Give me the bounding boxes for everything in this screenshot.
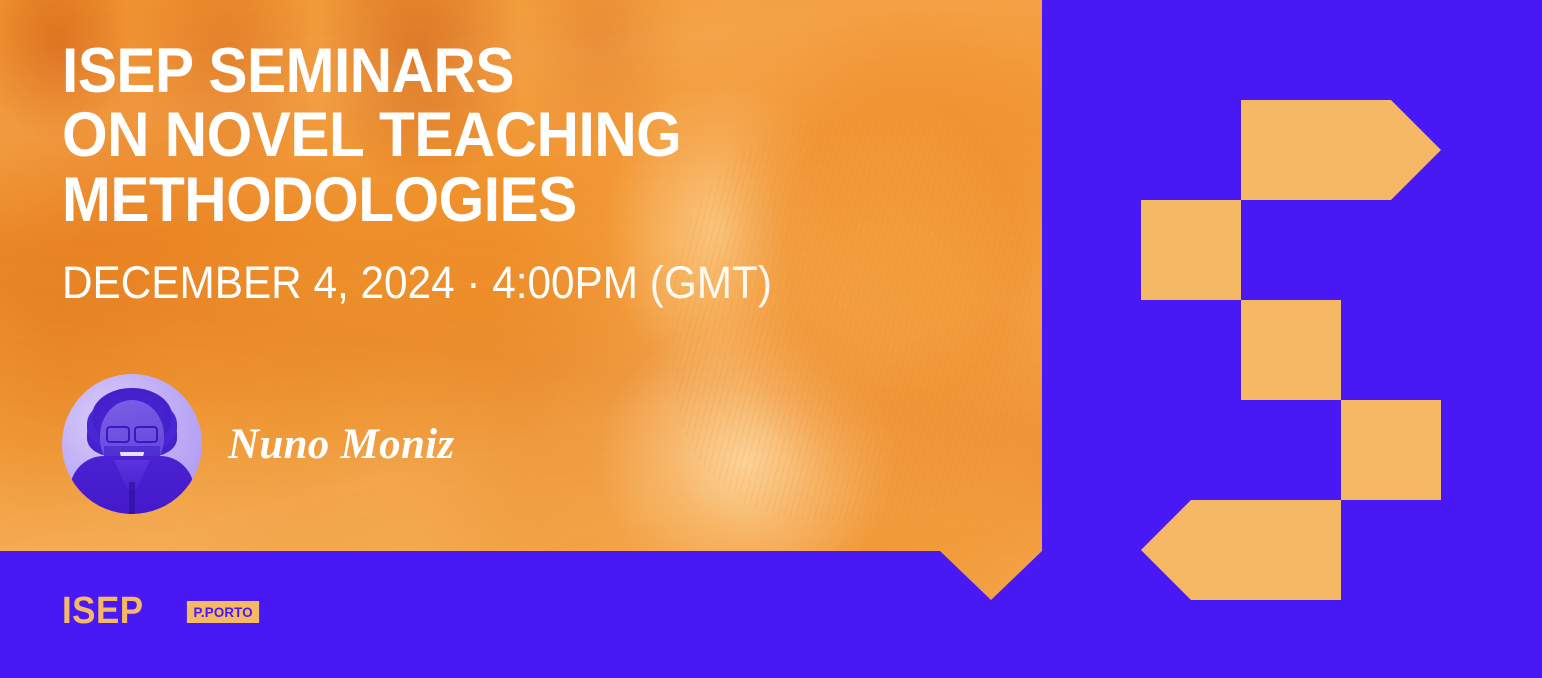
isep-logo: ISEP [62,590,144,633]
avatar-placket [129,482,135,514]
event-date-time-text: DECEMBER 4, 2024 · 4:00PM [62,257,650,308]
headline-line-2: ON NOVEL TEACHING [62,104,899,166]
footer: ISEP P.PORTO [0,551,1542,678]
glasses-icon [106,426,158,439]
pporto-logo: P.PORTO [187,601,260,623]
event-timezone: (GMT) [650,257,772,308]
footer-logos: ISEP P.PORTO [62,590,261,633]
speaker-block: Nuno Moniz [62,374,454,514]
square-block-3 [1341,400,1441,500]
arrow-right-icon [1241,100,1441,200]
speaker-name: Nuno Moniz [228,420,454,469]
square-block-1 [1141,200,1241,300]
event-datetime: DECEMBER 4, 2024 · 4:00PM (GMT) [62,257,908,309]
page-title: ISEP SEMINARS ON NOVEL TEACHING METHODOL… [62,40,899,231]
headline-block: ISEP SEMINARS ON NOVEL TEACHING METHODOL… [62,40,962,309]
headline-line-1: ISEP SEMINARS [62,40,899,102]
square-block-2 [1241,300,1341,400]
event-banner: ISEP SEMINARS ON NOVEL TEACHING METHODOL… [0,0,1542,678]
avatar [62,374,202,514]
headline-line-3: METHODOLOGIES [62,169,899,231]
